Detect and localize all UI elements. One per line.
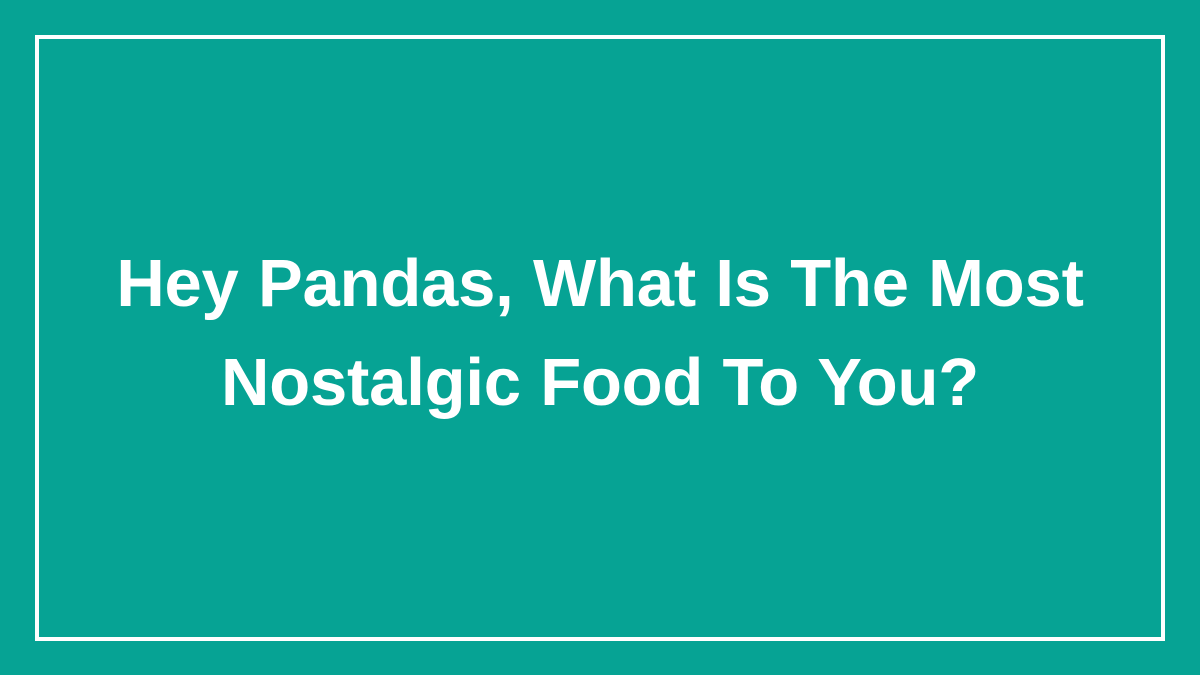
title-line-1: Hey Pandas, What Is The Most: [116, 246, 1083, 321]
page-title: Hey Pandas, What Is The MostNostalgic Fo…: [95, 234, 1105, 432]
promo-card: Hey Pandas, What Is The MostNostalgic Fo…: [0, 0, 1200, 675]
title-line-2: Nostalgic Food To You?: [221, 345, 979, 420]
title-block: Hey Pandas, What Is The MostNostalgic Fo…: [0, 0, 1200, 675]
